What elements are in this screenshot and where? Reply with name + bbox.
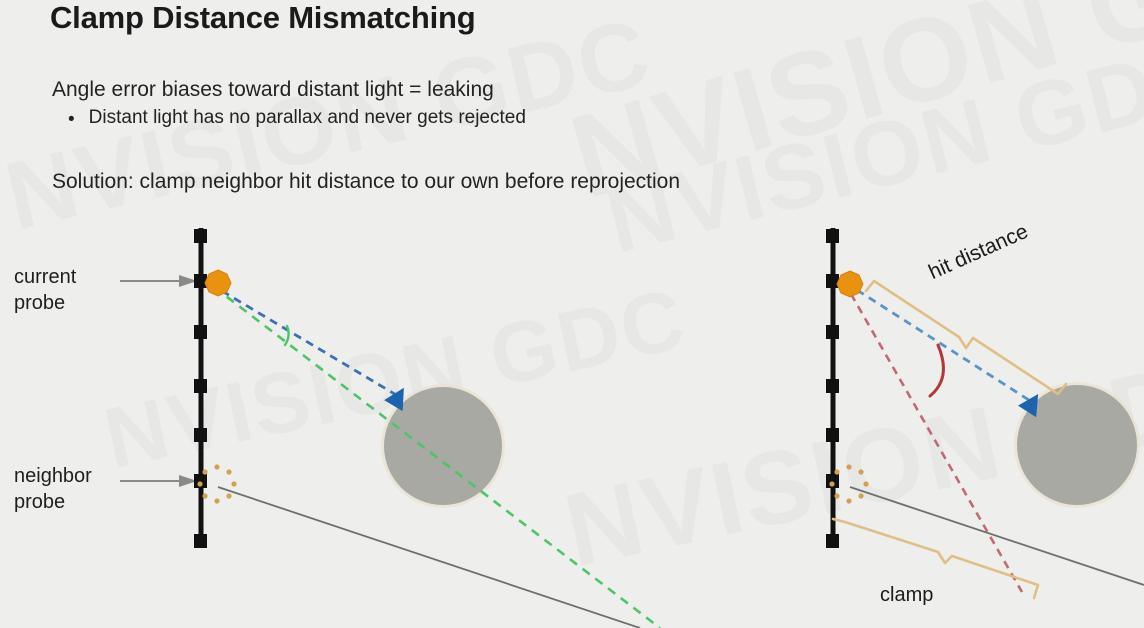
wall-tick xyxy=(826,229,839,243)
neighbor-probe-label: neighbor probe xyxy=(14,464,92,515)
wall-tick xyxy=(826,325,839,339)
left-diagram xyxy=(0,0,1144,628)
wall-tick xyxy=(826,379,839,393)
wall-tick xyxy=(826,534,839,548)
neighbor-probe-label-line-1: neighbor xyxy=(14,464,92,490)
current-probe-label: current probe xyxy=(14,265,76,316)
neighbor-probe-label-line-2: probe xyxy=(14,490,92,516)
clamp-label: clamp xyxy=(880,584,933,607)
current-probe-octagon xyxy=(205,270,231,296)
wall-tick xyxy=(194,274,207,288)
clamp-brace xyxy=(833,519,1038,598)
gray-neighbor-ray xyxy=(218,487,640,628)
wall-tick xyxy=(194,325,207,339)
current-probe-octagon xyxy=(837,271,863,297)
wall-tick xyxy=(194,379,207,393)
slide-root: NVISION GDC NVISION GDC NVISION GDC NVIS… xyxy=(0,0,1144,628)
blue-dashed-hit-ray xyxy=(857,290,1032,402)
current-probe-label-line-1: current xyxy=(14,265,76,291)
wall-tick xyxy=(826,274,839,288)
wall-tick xyxy=(194,534,207,548)
red-dashed-clamped-ray xyxy=(851,294,1022,592)
green-dashed-reprojected-ray xyxy=(214,287,660,628)
wall-tick xyxy=(194,428,207,442)
blue-dashed-hit-ray xyxy=(222,291,398,396)
gray-occluder-circle xyxy=(1017,385,1137,505)
hit-distance-brace xyxy=(866,281,1066,394)
gray-occluder-circle xyxy=(384,387,502,505)
red-angle-arc xyxy=(930,345,943,396)
current-probe-label-line-2: probe xyxy=(14,291,76,317)
wall-tick xyxy=(194,229,207,243)
wall-tick xyxy=(826,428,839,442)
